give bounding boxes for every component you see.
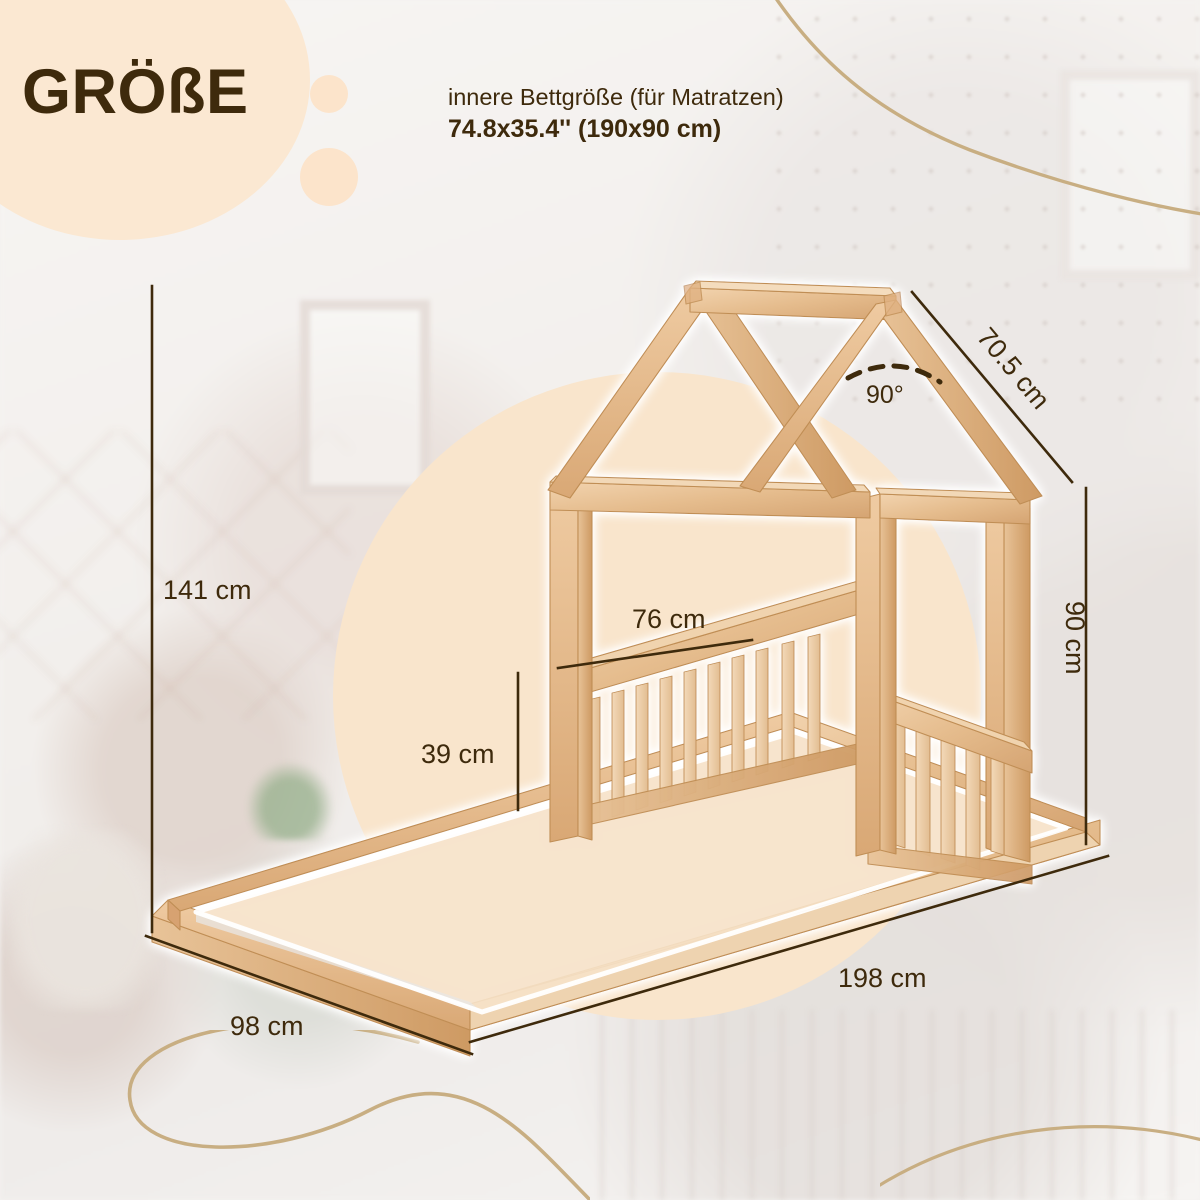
dimension-label-outer-length: 198 cm: [838, 963, 927, 994]
infographic-canvas: GRÖßE innere Bettgröße (für Matratzen) 7…: [0, 0, 1200, 1200]
subtitle-line-1: innere Bettgröße (für Matratzen): [448, 83, 968, 112]
dimension-label-outer-width: 98 cm: [230, 1011, 304, 1042]
page-title: GRÖßE: [22, 56, 249, 128]
dimension-label-total-height: 141 cm: [163, 575, 252, 606]
dimension-label-inner-width: 76 cm: [632, 604, 706, 635]
dimension-label-rail-height: 39 cm: [421, 739, 495, 770]
dimension-label-roof-angle: 90°: [866, 381, 904, 410]
subtitle-line-2: 74.8x35.4'' (190x90 cm): [448, 114, 968, 145]
subtitle-block: innere Bettgröße (für Matratzen) 74.8x35…: [448, 83, 968, 144]
dimension-label-side-height: 90 cm: [1059, 601, 1090, 675]
